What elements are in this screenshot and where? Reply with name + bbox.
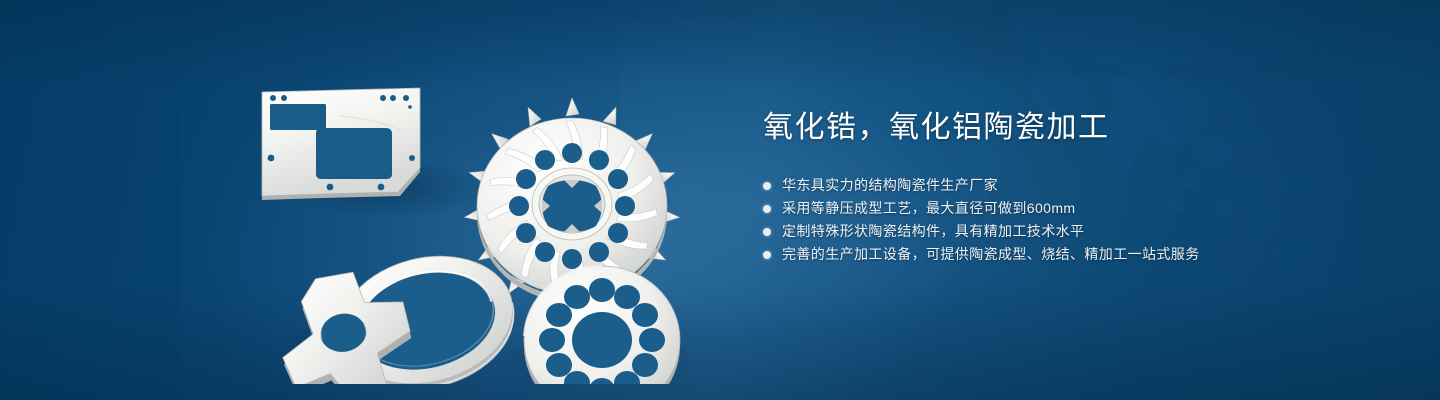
banner-headline: 氧化锆，氧化铝陶瓷加工: [763, 108, 1363, 148]
feature-text: 采用等静压成型工艺，最大直径可做到600mm: [782, 197, 1075, 220]
list-item: 完善的生产加工设备，可提供陶瓷成型、烧结、精加工一站式服务: [763, 243, 1363, 266]
banner-copy: 氧化锆，氧化铝陶瓷加工 华东具实力的结构陶瓷件生产厂家 采用等静压成型工艺，最大…: [763, 108, 1363, 266]
ceramic-flat-plate-part: [262, 88, 420, 200]
bullet-dot-icon: [763, 228, 771, 236]
ceramic-products-image: [240, 48, 710, 384]
feature-list: 华东具实力的结构陶瓷件生产厂家 采用等静压成型工艺，最大直径可做到600mm 定…: [763, 174, 1363, 266]
list-item: 华东具实力的结构陶瓷件生产厂家: [763, 174, 1363, 197]
bullet-dot-icon: [763, 205, 771, 213]
list-item: 定制特殊形状陶瓷结构件，具有精加工技术水平: [763, 220, 1363, 243]
feature-text: 华东具实力的结构陶瓷件生产厂家: [782, 174, 998, 197]
bullet-dot-icon: [763, 251, 771, 259]
feature-text: 完善的生产加工设备，可提供陶瓷成型、烧结、精加工一站式服务: [782, 243, 1200, 266]
feature-text: 定制特殊形状陶瓷结构件，具有精加工技术水平: [782, 220, 1084, 243]
hero-banner: 氧化锆，氧化铝陶瓷加工 华东具实力的结构陶瓷件生产厂家 采用等静压成型工艺，最大…: [0, 0, 1440, 400]
bullet-dot-icon: [763, 182, 771, 190]
list-item: 采用等静压成型工艺，最大直径可做到600mm: [763, 197, 1363, 220]
